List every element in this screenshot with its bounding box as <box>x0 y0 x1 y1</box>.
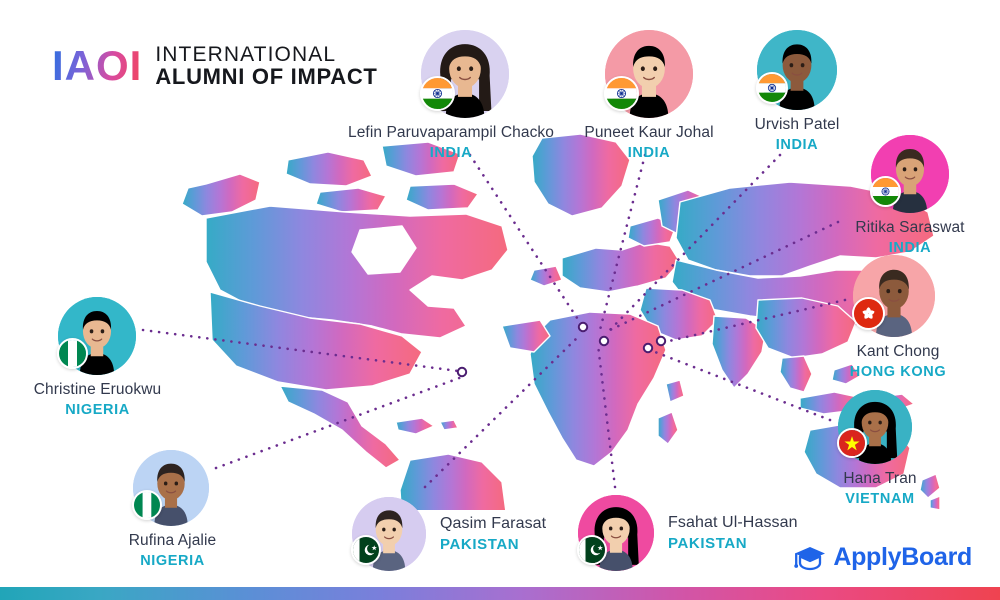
avatar-box-puneet-kaur-johal <box>605 30 693 118</box>
person-country: VIETNAM <box>820 491 940 508</box>
flag-icon-nigeria <box>57 338 88 369</box>
person-name: Lefin Paruvaparampil Chacko <box>336 124 566 143</box>
flag-icon-pakistan <box>577 535 607 565</box>
person-card-rufina-ajalie[interactable]: Rufina Ajalie NIGERIA <box>110 450 235 570</box>
person-card-christine-eruokwu[interactable]: Christine Eruokwu NIGERIA <box>20 297 175 419</box>
person-country: INDIA <box>564 145 734 162</box>
avatar-box-ritika-saraswat <box>871 135 949 213</box>
person-card-puneet-kaur-johal[interactable]: Puneet Kaur Johal INDIA <box>564 30 734 162</box>
person-info-hana-tran: Hana Tran VIETNAM <box>820 470 940 508</box>
applyboard-wordmark: ApplyBoard <box>833 543 972 572</box>
iaoi-wordmark: IAOI <box>52 45 142 87</box>
bottom-gradient-bar <box>0 587 1000 600</box>
person-country: PAKISTAN <box>668 535 798 553</box>
person-country: PAKISTAN <box>440 536 546 554</box>
flag-icon-hongkong <box>852 297 885 330</box>
person-info-puneet-kaur-johal: Puneet Kaur Johal INDIA <box>564 124 734 162</box>
avatar-box-urvish-patel <box>757 30 837 110</box>
poster-canvas: IAOI INTERNATIONAL ALUMNI OF IMPACT <box>0 0 1000 600</box>
flag-icon-vietnam <box>837 428 867 458</box>
person-country: HONG KONG <box>833 364 963 381</box>
avatar-box-lefin-paruvaparampil-chacko <box>421 30 509 118</box>
flag-icon-pakistan <box>351 535 381 565</box>
person-card-lefin-paruvaparampil-chacko[interactable]: Lefin Paruvaparampil Chacko INDIA <box>336 30 566 162</box>
avatar-box-fsahat-ul-hassan <box>578 495 654 571</box>
person-country: INDIA <box>336 145 566 162</box>
flag-icon-india <box>756 72 788 104</box>
person-info-ritika-saraswat: Ritika Saraswat INDIA <box>840 219 980 257</box>
iaoi-logo: IAOI INTERNATIONAL ALUMNI OF IMPACT <box>52 44 378 89</box>
avatar-box-qasim-farasat <box>352 497 426 571</box>
person-name: Rufina Ajalie <box>110 532 235 551</box>
person-info-kant-chong: Kant Chong HONG KONG <box>833 343 963 381</box>
avatar-box-kant-chong <box>853 255 935 337</box>
graduation-cap-icon <box>794 545 826 571</box>
person-country: NIGERIA <box>20 402 175 419</box>
person-name: Kant Chong <box>833 343 963 362</box>
person-name: Christine Eruokwu <box>20 381 175 400</box>
person-country: NIGERIA <box>110 553 235 570</box>
person-info-fsahat-ul-hassan: Fsahat Ul-Hassan PAKISTAN <box>668 513 798 552</box>
avatar-box-christine-eruokwu <box>58 297 136 375</box>
avatar-box-rufina-ajalie <box>133 450 209 526</box>
person-info-rufina-ajalie: Rufina Ajalie NIGERIA <box>110 532 235 570</box>
person-card-kant-chong[interactable]: Kant Chong HONG KONG <box>833 255 963 381</box>
flag-icon-india <box>420 76 455 111</box>
person-name: Fsahat Ul-Hassan <box>668 513 798 532</box>
person-name: Ritika Saraswat <box>840 219 980 238</box>
person-info-qasim-farasat: Qasim Farasat PAKISTAN <box>440 514 546 553</box>
person-name: Puneet Kaur Johal <box>564 124 734 143</box>
person-card-ritika-saraswat[interactable]: Ritika Saraswat INDIA <box>840 135 980 257</box>
flag-icon-india <box>870 176 901 207</box>
avatar-box-hana-tran <box>838 390 912 464</box>
person-name: Urvish Patel <box>732 116 862 135</box>
person-info-christine-eruokwu: Christine Eruokwu NIGERIA <box>20 381 175 419</box>
applyboard-logo[interactable]: ApplyBoard <box>794 543 972 572</box>
flag-icon-india <box>604 76 639 111</box>
person-name: Qasim Farasat <box>440 514 546 533</box>
person-info-lefin-paruvaparampil-chacko: Lefin Paruvaparampil Chacko INDIA <box>336 124 566 162</box>
flag-icon-nigeria <box>132 490 162 520</box>
person-card-fsahat-ul-hassan[interactable]: Fsahat Ul-Hassan PAKISTAN <box>578 495 798 571</box>
person-card-qasim-farasat[interactable]: Qasim Farasat PAKISTAN <box>352 497 546 571</box>
person-card-hana-tran[interactable]: Hana Tran VIETNAM <box>820 390 940 508</box>
person-name: Hana Tran <box>820 470 940 489</box>
